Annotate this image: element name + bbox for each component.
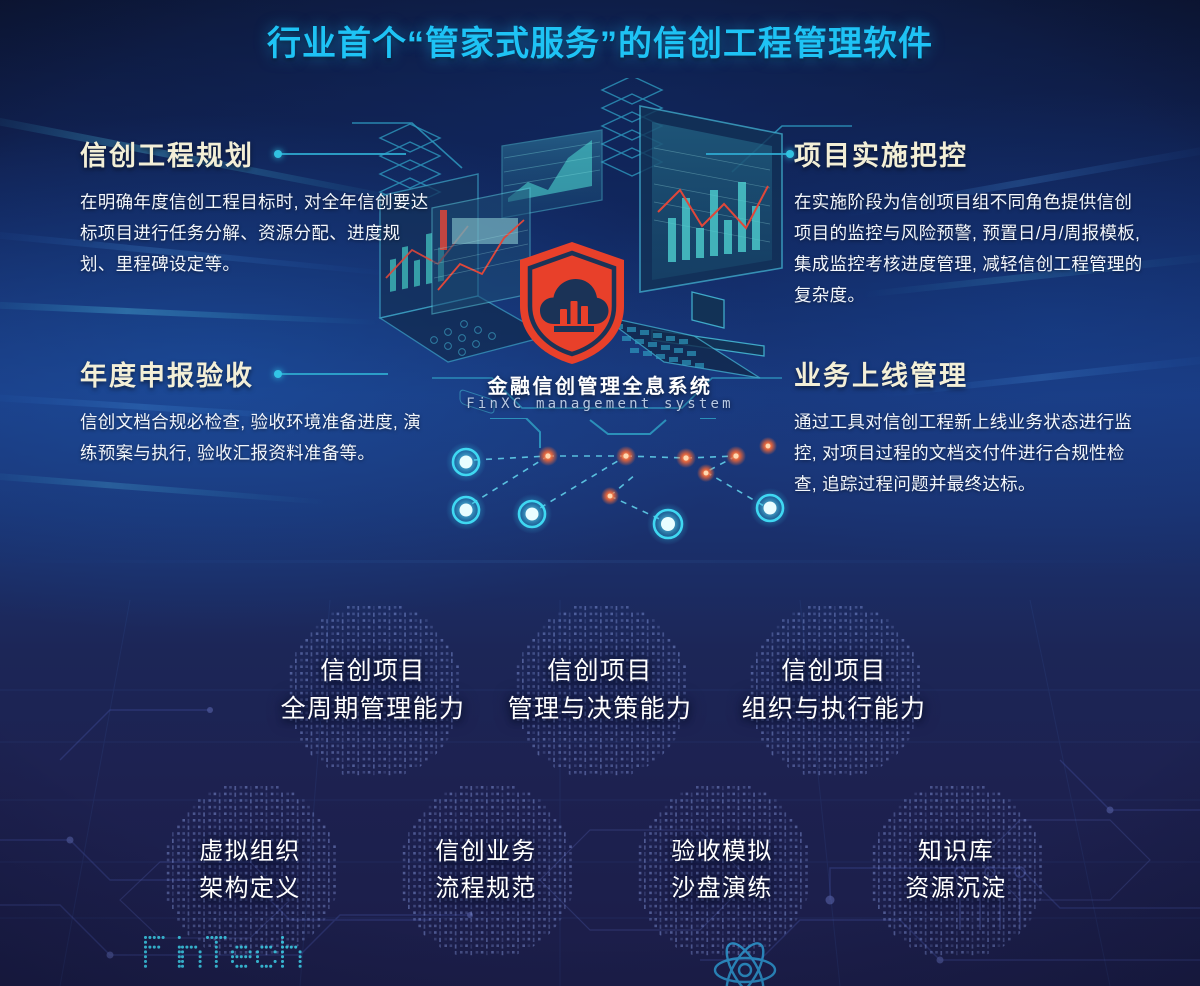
- feature-block-plan: 信创工程规划 在明确年度信创工程目标时, 对全年信创要达标项目进行任务分解、资源…: [80, 134, 432, 280]
- feature-heading: 项目实施把控: [794, 134, 1146, 173]
- capability-sphere: 信创项目 管理与决策能力: [510, 600, 690, 780]
- page-title: 行业首个“管家式服务”的信创工程管理软件: [0, 16, 1200, 65]
- capability-label: 信创项目 组织与执行能力: [742, 652, 927, 728]
- feature-body: 在实施阶段为信创项目组不同角色提供信创项目的监控与风险预警, 预置日/月/周报模…: [794, 187, 1146, 311]
- fintech-wordmark: [140, 930, 330, 978]
- capability-label: 信创业务 流程规范: [435, 833, 537, 907]
- capability-label: 虚拟组织 架构定义: [199, 833, 301, 907]
- capability-sphere: 信创项目 全周期管理能力: [283, 600, 463, 780]
- feature-body: 通过工具对信创工程新上线业务状态进行监控, 对项目过程的文档交付件进行合规性检查…: [794, 407, 1146, 500]
- connector-plan: [278, 153, 406, 155]
- feature-body: 在明确年度信创工程目标时, 对全年信创要达标项目进行任务分解、资源分配、进度规划…: [80, 187, 432, 280]
- infographic-canvas: 行业首个“管家式服务”的信创工程管理软件: [0, 0, 1200, 986]
- capability-row-middle: 信创项目 全周期管理能力 信创项目 管理与决策能力 信创项目 组织与执行能力: [0, 600, 1200, 790]
- capability-sphere: 信创业务 流程规范: [396, 780, 576, 960]
- capability-sphere: 知识库 资源沉淀: [866, 780, 1046, 960]
- capability-label: 知识库 资源沉淀: [905, 833, 1007, 907]
- connector-acceptance: [278, 373, 388, 375]
- capability-label: 信创项目 管理与决策能力: [508, 652, 693, 728]
- connector-dot: [274, 370, 282, 378]
- system-name-cn: 金融信创管理全息系统: [380, 370, 820, 399]
- capability-label: 信创项目 全周期管理能力: [281, 652, 466, 728]
- capability-sphere: 信创项目 组织与执行能力: [744, 600, 924, 780]
- capability-label: 验收模拟 沙盘演练: [671, 833, 773, 907]
- feature-heading: 业务上线管理: [794, 354, 1146, 393]
- connector-implementation: [706, 153, 790, 155]
- feature-block-online: 业务上线管理 通过工具对信创工程新上线业务状态进行监控, 对项目过程的文档交付件…: [794, 354, 1146, 500]
- node-network-diagram: [430, 418, 830, 548]
- feature-block-implementation: 项目实施把控 在实施阶段为信创项目组不同角色提供信创项目的监控与风险预警, 预置…: [794, 134, 1146, 311]
- shield-cloud-chart-icon: [516, 240, 628, 366]
- connector-dot: [274, 150, 282, 158]
- feature-body: 信创文档合规必检查, 验收环境准备进度, 演练预案与执行, 验收汇报资料准备等。: [80, 407, 432, 469]
- connector-dot: [786, 150, 794, 158]
- feature-block-acceptance: 年度申报验收 信创文档合规必检查, 验收环境准备进度, 演练预案与执行, 验收汇…: [80, 354, 432, 469]
- system-name-en: FinXC management system: [380, 396, 820, 412]
- atom-icon: [700, 930, 790, 986]
